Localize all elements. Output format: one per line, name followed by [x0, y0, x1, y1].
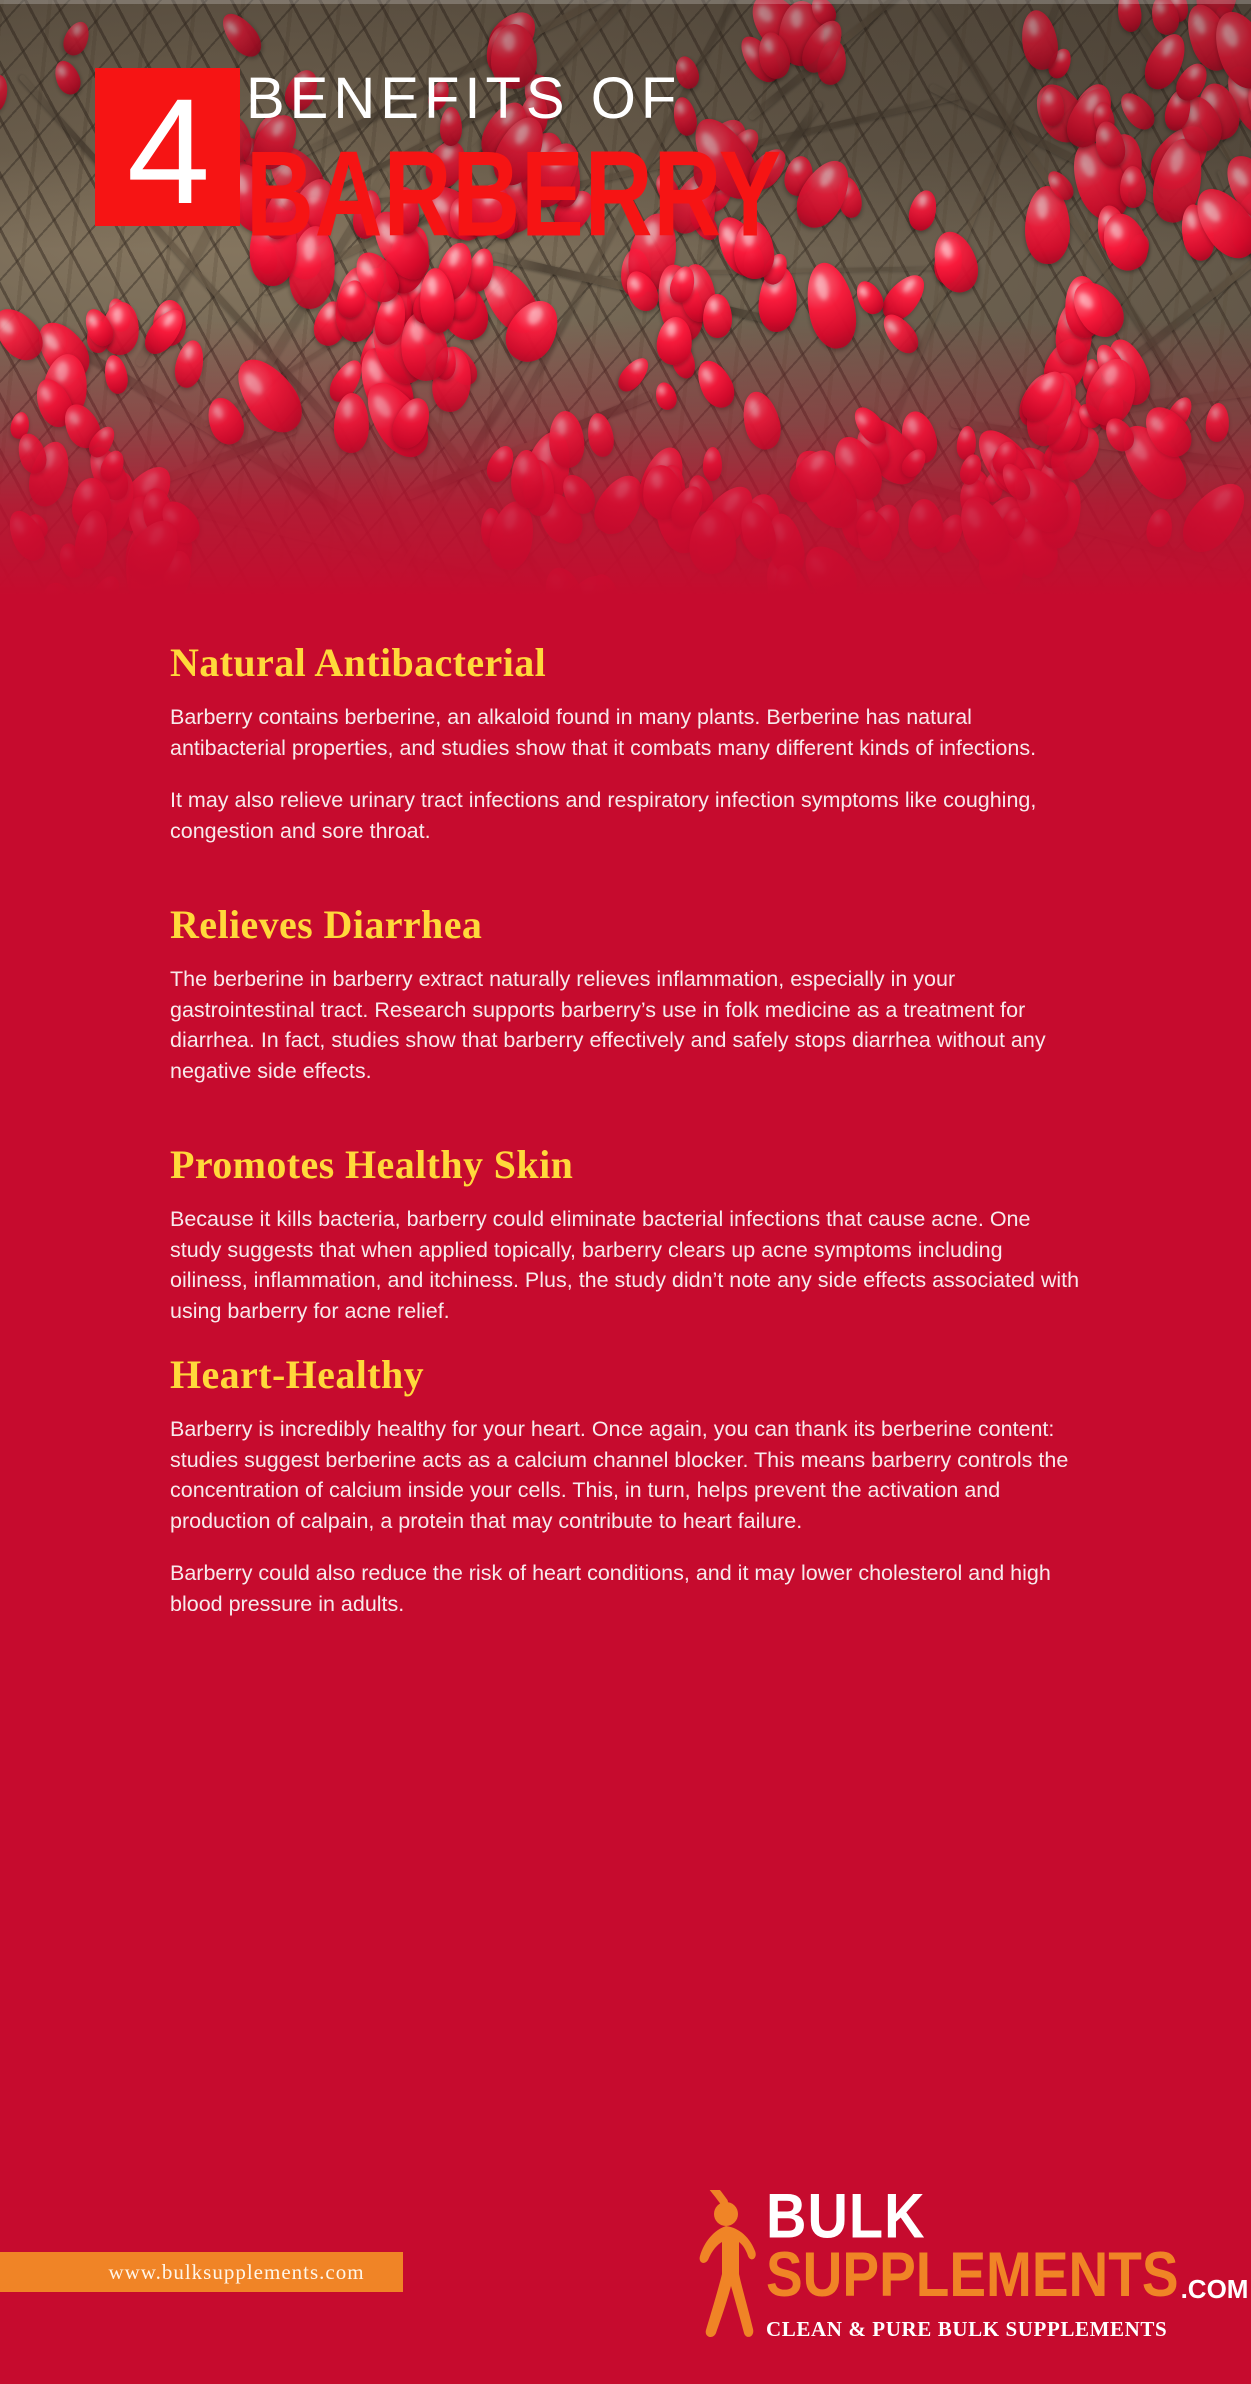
- section-divider-space: [0, 1086, 1251, 1144]
- section-paragraph: The berberine in barberry extract natura…: [170, 964, 1081, 1086]
- logo-second-row: SUPPLEMENTS .COM: [766, 2252, 1166, 2305]
- title-line-benefits-of: BENEFITS OF: [246, 60, 1246, 128]
- hero-top-line: [0, 0, 1251, 4]
- section-heading: Promotes Healthy Skin: [170, 1144, 1081, 1186]
- section-heart-healthy: Heart-Healthy Barberry is incredibly hea…: [0, 1354, 1251, 1619]
- logo-word-bulk: BULK: [766, 2186, 1166, 2246]
- logo-word-supplements: SUPPLEMENTS: [766, 2244, 1179, 2304]
- title-lines: BENEFITS OF BARBERRY: [246, 60, 1246, 226]
- section-relieves-diarrhea: Relieves Diarrhea The berberine in barbe…: [0, 904, 1251, 1086]
- section-paragraph: Because it kills bacteria, barberry coul…: [170, 1204, 1081, 1326]
- website-url-bar[interactable]: www.bulksupplements.com: [0, 2252, 403, 2292]
- hero-bottom-fade: [0, 320, 1251, 620]
- running-figure-icon: [688, 2190, 758, 2340]
- section-promotes-healthy-skin: Promotes Healthy Skin Because it kills b…: [0, 1144, 1251, 1326]
- section-paragraph: Barberry contains berberine, an alkaloid…: [170, 702, 1081, 763]
- infographic-page: 4 BENEFITS OF BARBERRY Natural Antibacte…: [0, 0, 1251, 2384]
- section-divider-space: [0, 1326, 1251, 1354]
- footer: www.bulksupplements.com BULK SUPPLEMENTS…: [0, 2144, 1251, 2384]
- section-paragraph: Barberry could also reduce the risk of h…: [170, 1558, 1081, 1619]
- logo-wordmark: BULK SUPPLEMENTS .COM CLEAN & PURE BULK …: [766, 2186, 1166, 2342]
- section-heading: Relieves Diarrhea: [170, 904, 1081, 946]
- website-url-text: www.bulksupplements.com: [38, 2260, 364, 2285]
- bulksupplements-logo[interactable]: BULK SUPPLEMENTS .COM CLEAN & PURE BULK …: [688, 2186, 1168, 2346]
- title-line-barberry: BARBERRY: [246, 134, 1251, 255]
- benefit-count-badge: 4: [95, 68, 240, 226]
- logo-tagline: CLEAN & PURE BULK SUPPLEMENTS: [766, 2317, 1166, 2342]
- benefit-count-number: 4: [127, 76, 208, 226]
- section-heading: Natural Antibacterial: [170, 642, 1081, 684]
- title-block: 4 BENEFITS OF BARBERRY: [0, 60, 1251, 240]
- section-heading: Heart-Healthy: [170, 1354, 1081, 1396]
- logo-dot-com: .COM: [1181, 2276, 1249, 2302]
- section-paragraph: Barberry is incredibly healthy for your …: [170, 1414, 1081, 1536]
- section-divider-space: [0, 846, 1251, 904]
- section-natural-antibacterial: Natural Antibacterial Barberry contains …: [0, 642, 1251, 846]
- section-paragraph: It may also relieve urinary tract infect…: [170, 785, 1081, 846]
- content-body: Natural Antibacterial Barberry contains …: [0, 620, 1251, 1619]
